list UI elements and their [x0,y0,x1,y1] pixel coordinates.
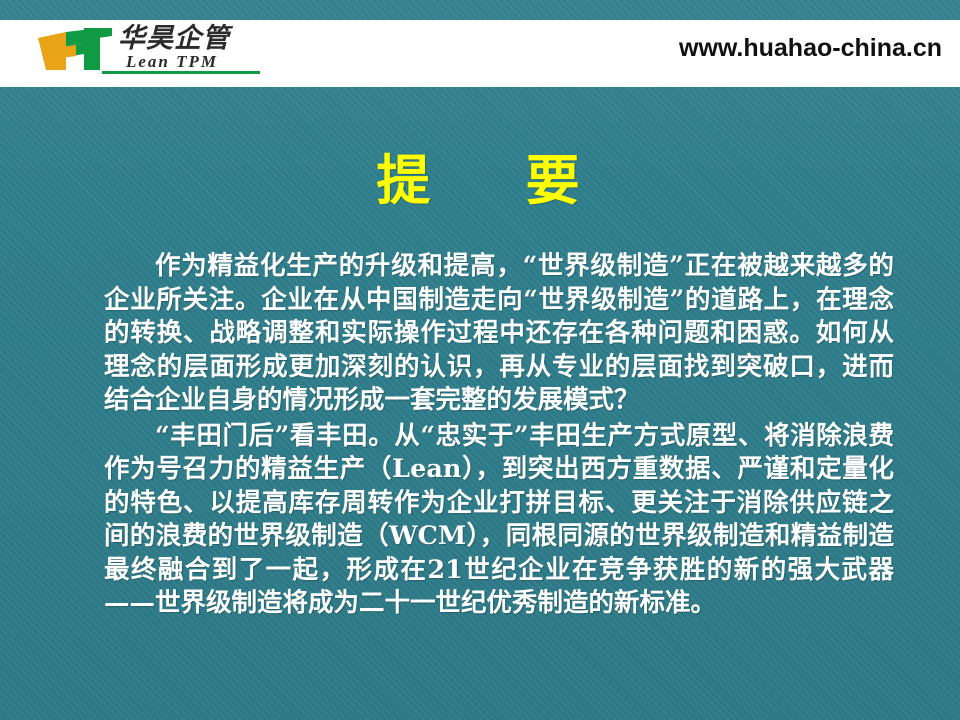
page-title: 提 要 [0,136,960,215]
presentation-slide: 华昊企管 Lean TPM www.huahao-china.cn 提 要 作为… [0,0,960,720]
logo-underline [102,71,260,74]
logo-company-name-en: Lean TPM [126,52,218,71]
huahao-h-logo-icon [36,26,114,72]
website-url: www.huahao-china.cn [679,34,942,63]
slide-body-text: 作为精益化生产的升级和提高，“世界级制造”正在被越来越多的企业所关注。企业在从中… [104,250,894,621]
body-paragraph-2: “丰田门后”看丰田。从“忠实于”丰田生产方式原型、将消除浪费作为号召力的精益生产… [104,420,894,621]
company-logo: 华昊企管 Lean TPM [36,22,266,82]
logo-company-name-cn: 华昊企管 [118,23,230,53]
body-paragraph-1: 作为精益化生产的升级和提高，“世界级制造”正在被越来越多的企业所关注。企业在从中… [104,250,894,418]
